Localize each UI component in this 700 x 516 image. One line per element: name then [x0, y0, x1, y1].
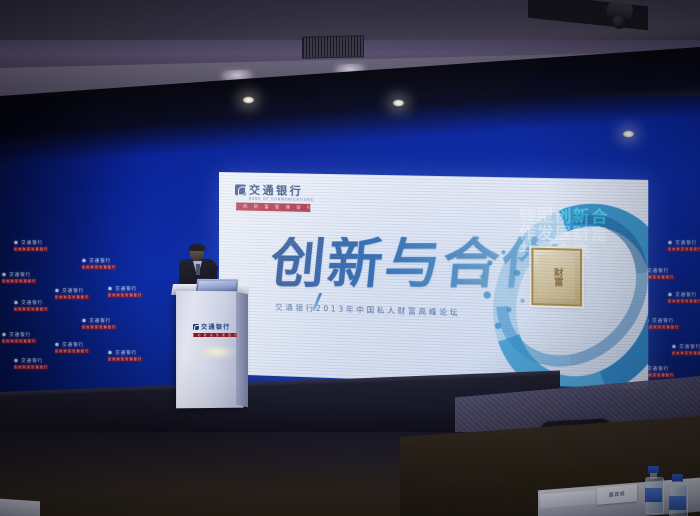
- backdrop-logo-redbar: 您的财富管理银行: [668, 299, 700, 303]
- backdrop-logo-tagline: 您的财富管理银行: [82, 265, 116, 269]
- backdrop-logo-left: ⬢ 交通银行您的财富管理银行: [55, 342, 89, 353]
- screen-logo-cn: 交通银行: [249, 185, 303, 197]
- backdrop-logo-redbar: 您的财富管理银行: [108, 357, 142, 361]
- ceiling-spotlight: [392, 99, 405, 107]
- backdrop-logo-text: ⬢ 交通银行: [14, 358, 48, 364]
- backdrop-logo-tagline: 您的财富管理银行: [55, 295, 89, 299]
- backdrop-logo-redbar: 您的财富管理银行: [14, 247, 48, 251]
- backdrop-logo-text: ⬢ 交通银行: [14, 240, 48, 246]
- backdrop-logo-text: ⬢ 交通银行: [672, 344, 700, 350]
- backdrop-logo-redbar: 您的财富管理银行: [55, 295, 89, 299]
- backdrop-logo-left: ⬢ 交通银行您的财富管理银行: [14, 300, 48, 311]
- backdrop-logo-text: ⬢ 交通银行: [645, 318, 679, 324]
- backdrop-logo-redbar: 您的财富管理银行: [108, 293, 142, 297]
- backdrop-logo-tagline: 您的财富管理银行: [108, 293, 142, 297]
- backdrop-logo-tagline: 您的财富管理银行: [82, 325, 116, 329]
- screen-logo-tagline: 您 的 财 富 管 理 银 行: [233, 203, 314, 211]
- backdrop-logo-text: ⬢ 交通银行: [108, 350, 142, 356]
- backdrop-logo-tagline: 您的财富管理银行: [645, 325, 679, 329]
- backdrop-logo-right: ⬢ 交通银行您的财富管理银行: [672, 344, 700, 355]
- conference-photo-scene: ⬢ 交通银行您的财富管理银行⬢ 交通银行您的财富管理银行⬢ 交通银行您的财富管理…: [0, 0, 700, 516]
- backdrop-logo-left: ⬢ 交通银行您的财富管理银行: [55, 288, 89, 299]
- backdrop-logo-redbar: 您的财富管理银行: [645, 325, 679, 329]
- backdrop-logo-text: ⬢ 交通银行: [82, 318, 116, 324]
- backdrop-logo-tagline: 您的财富管理银行: [55, 349, 89, 353]
- backdrop-logo-text: ⬢ 交通银行: [55, 288, 89, 294]
- ink-brush-circle-graphic: 转型创新合作发展财富共赢未来 财富: [477, 183, 635, 379]
- backdrop-logo-tagline: 您的财富管理银行: [108, 357, 142, 361]
- backdrop-logo-text: ⬢ 交通银行: [55, 342, 89, 348]
- backdrop-left-shadow: [0, 96, 150, 426]
- backdrop-logo-tagline: 您的财富管理银行: [2, 279, 36, 283]
- water-bottle: [669, 474, 686, 516]
- podium-bocom-logo: 交通银行 您 的 财 富 管 理 银 行: [193, 322, 239, 337]
- backdrop-logo-left: ⬢ 交通银行您的财富管理银行: [82, 318, 116, 329]
- backdrop-logo-tagline: 您的财富管理银行: [14, 365, 48, 369]
- backdrop-logo-tagline: 您的财富管理银行: [668, 247, 700, 251]
- screen-subtitle: 交通银行2013年中国私人财富高峰论坛: [275, 302, 460, 319]
- backdrop-logo-text: ⬢ 交通银行: [668, 240, 700, 246]
- security-camera-icon: [607, 2, 633, 32]
- bottle-label: [669, 496, 686, 510]
- backdrop-logo-redbar: 您的财富管理银行: [82, 265, 116, 269]
- backdrop-logo-redbar: 您的财富管理银行: [672, 351, 700, 355]
- backdrop-logo-text: ⬢ 交通银行: [2, 272, 36, 278]
- golden-seal-plaque: 财富: [531, 248, 582, 307]
- backdrop-logo-redbar: 您的财富管理银行: [2, 279, 36, 283]
- backdrop-logo-text: ⬢ 交通银行: [108, 286, 142, 292]
- podium-logo-tagline: 您 的 财 富 管 理 银 行: [192, 333, 239, 337]
- backdrop-logo-redbar: 您的财富管理银行: [2, 339, 36, 343]
- guest-namecard: 嘉宾席: [597, 484, 637, 504]
- backdrop-logo-left: ⬢ 交通银行您的财富管理银行: [2, 332, 36, 343]
- bocom-mark-icon: [235, 184, 246, 195]
- speaker-tie: [196, 264, 200, 275]
- backdrop-logo-right: ⬢ 交通银行您的财富管理银行: [668, 292, 700, 303]
- screen-bocom-logo: 交通银行 BANK OF COMMUNICATIONS 您 的 财 富 管 理 …: [235, 184, 314, 212]
- backdrop-logo-left: ⬢ 交通银行您的财富管理银行: [108, 350, 142, 361]
- backdrop-logo-left: ⬢ 交通银行您的财富管理银行: [108, 286, 142, 297]
- backdrop-logo-text: ⬢ 交通银行: [82, 258, 116, 264]
- led-screen: 交通银行 BANK OF COMMUNICATIONS 您 的 财 富 管 理 …: [219, 172, 648, 389]
- backdrop-logo-left: ⬢ 交通银行您的财富管理银行: [2, 272, 36, 283]
- backdrop-logo-tagline: 您的财富管理银行: [2, 339, 36, 343]
- ink-splash-decor: [479, 244, 533, 338]
- speaker-hair: [189, 244, 205, 251]
- backdrop-logo-tagline: 您的财富管理银行: [668, 299, 700, 303]
- backdrop-logo-text: ⬢ 交通银行: [2, 332, 36, 338]
- podium-logo-redbar: 您 的 财 富 管 理 银 行: [193, 333, 237, 337]
- bocom-mark-icon: [193, 324, 199, 330]
- water-bottle: [645, 466, 662, 512]
- backdrop-logo-left: ⬢ 交通银行您的财富管理银行: [82, 258, 116, 269]
- podium-logo-cn: 交通银行: [201, 322, 231, 331]
- backdrop-logo-text: ⬢ 交通银行: [14, 300, 48, 306]
- air-vent-icon: [302, 35, 364, 59]
- seal-text: 财富: [552, 268, 562, 287]
- ceiling-spotlight: [622, 130, 635, 138]
- backdrop-logo-redbar: 您的财富管理银行: [82, 325, 116, 329]
- backdrop-logo-redbar: 您的财富管理银行: [14, 307, 48, 311]
- backdrop-logo-left: ⬢ 交通银行您的财富管理银行: [14, 240, 48, 251]
- screen-logo-en: BANK OF COMMUNICATIONS: [249, 197, 314, 202]
- ceiling-spotlight: [242, 96, 255, 104]
- backdrop-logo-right: ⬢ 交通银行您的财富管理银行: [645, 318, 679, 329]
- backdrop-logo-tagline: 您的财富管理银行: [672, 351, 700, 355]
- backdrop-logo-left: ⬢ 交通银行您的财富管理银行: [14, 358, 48, 369]
- screen-logo-redbar: 您 的 财 富 管 理 银 行: [236, 202, 310, 212]
- podium-light-reflection: [196, 344, 238, 360]
- backdrop-logo-right: ⬢ 交通银行您的财富管理银行: [668, 240, 700, 251]
- foreground-table-left: [0, 499, 40, 516]
- backdrop-logo-redbar: 您的财富管理银行: [14, 365, 48, 369]
- backdrop-logo-text: ⬢ 交通银行: [668, 292, 700, 298]
- namecard-text: 嘉宾席: [609, 490, 626, 498]
- backdrop-logo-tagline: 您的财富管理银行: [14, 247, 48, 251]
- backdrop-logo-tagline: 您的财富管理银行: [14, 307, 48, 311]
- bottle-label: [645, 488, 662, 502]
- backdrop-logo-redbar: 您的财富管理银行: [668, 247, 700, 251]
- backdrop-logo-redbar: 您的财富管理银行: [55, 349, 89, 353]
